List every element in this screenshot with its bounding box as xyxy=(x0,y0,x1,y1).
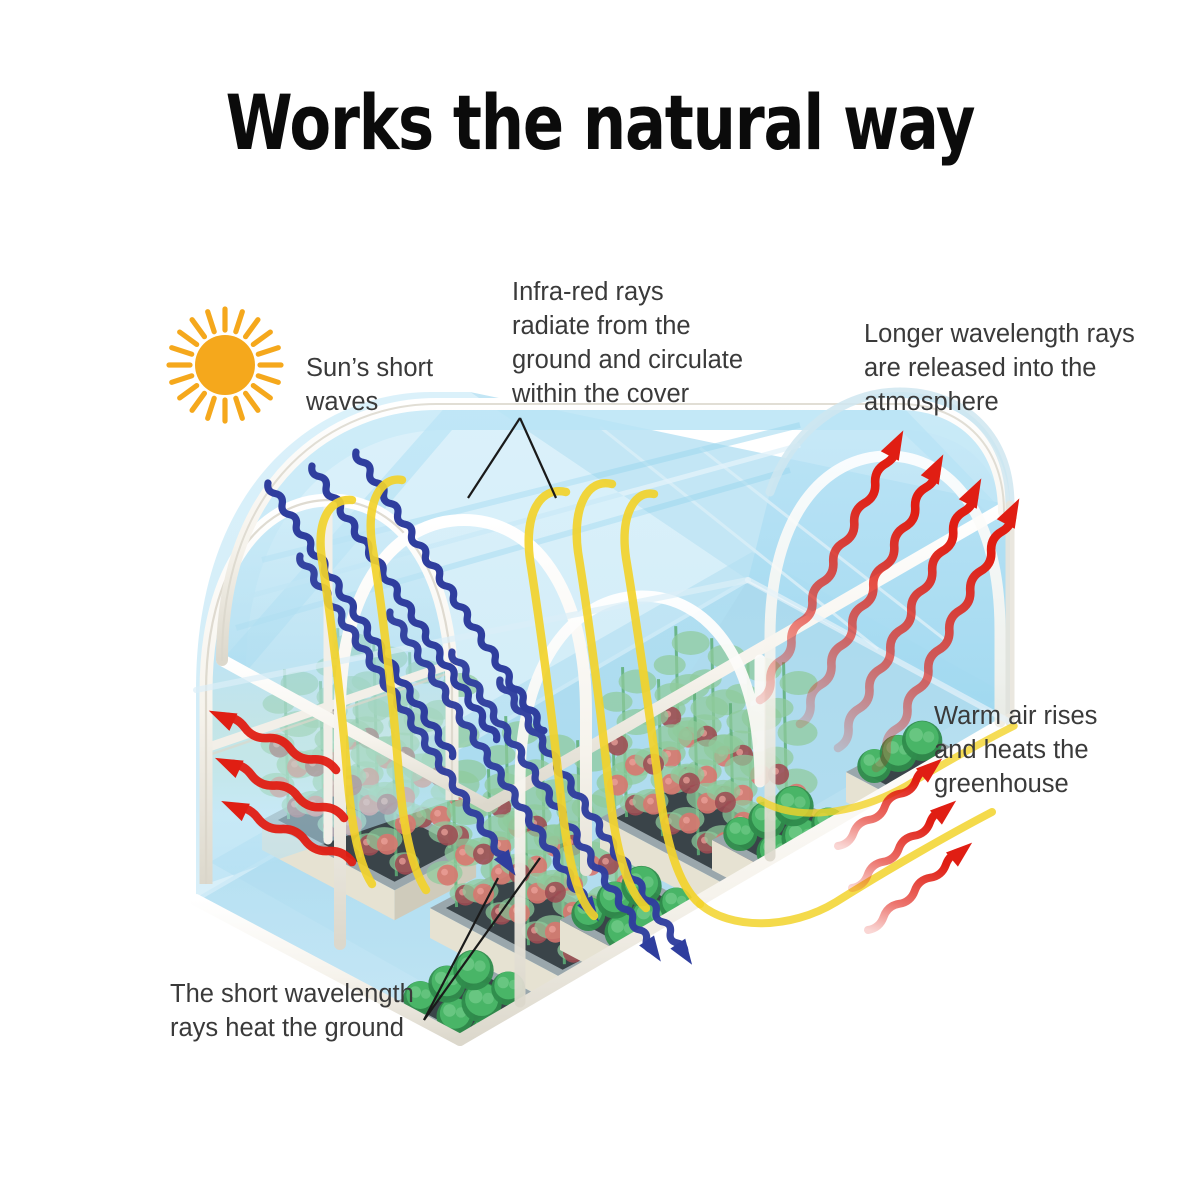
label-short-wavelength-ground: The short wavelength rays heat the groun… xyxy=(170,978,440,1046)
label-longer-wavelength-rays: Longer wavelength rays are released into… xyxy=(864,318,1154,420)
label-infrared-circulation: Infra-red rays radiate from the ground a… xyxy=(512,276,774,412)
label-sun-short-waves: Sun’s short waves xyxy=(306,352,506,420)
diagram-canvas: Works the natural way xyxy=(0,0,1200,1200)
label-warm-air-rises: Warm air rises and heats the greenhouse xyxy=(934,700,1134,802)
